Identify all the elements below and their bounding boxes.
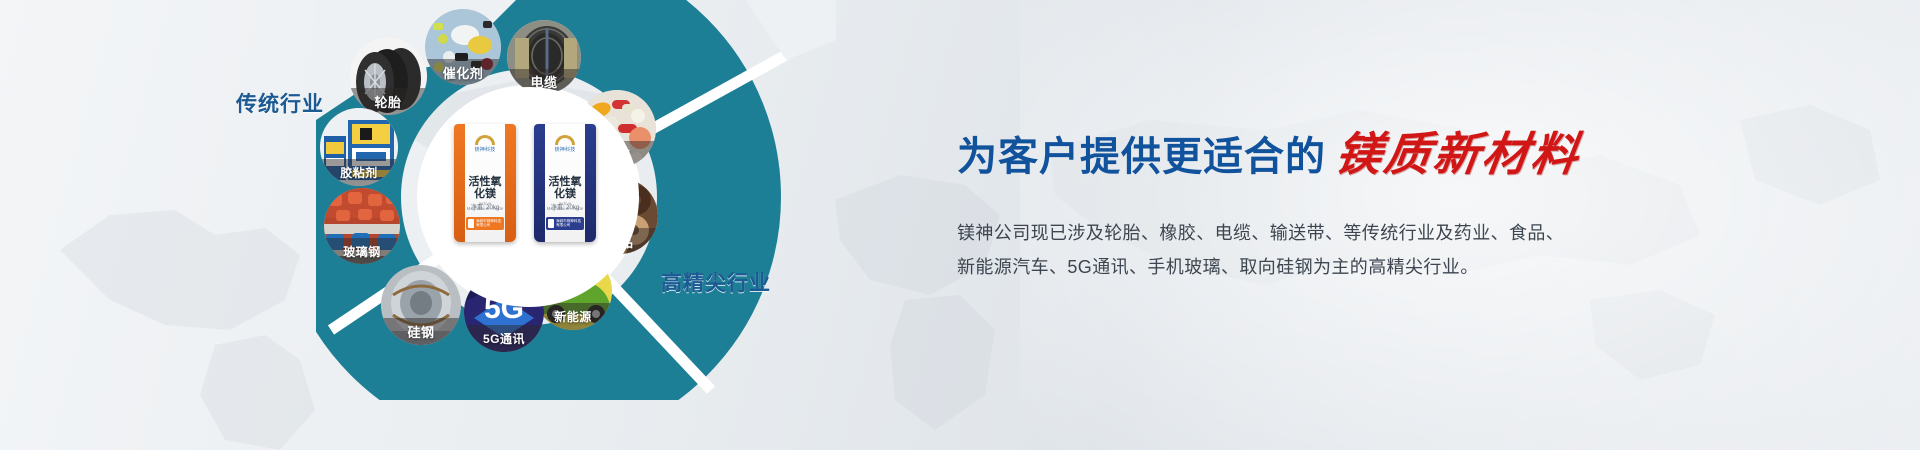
bubble-label: 催化剂 xyxy=(425,59,501,85)
product-bag-left[interactable]: 镁神科技 活性氧化镁 Active Magnesium oxide 净重: 20… xyxy=(454,124,516,242)
bag-edge-right xyxy=(585,124,596,242)
bag-footer-text: 海城市镁神科技有限公司 xyxy=(556,220,582,227)
bubble-catalyst[interactable]: 催化剂 xyxy=(425,9,501,85)
headline-blue-text: 为客户提供更适合的 xyxy=(957,124,1326,182)
bubble-label: 新能源 xyxy=(534,303,612,330)
banner-paragraph: 镁神公司现已涉及轮胎、橡胶、电缆、输送带、等传统行业及药业、食品、新能源汽车、5… xyxy=(957,216,1577,284)
banner-copy: 为客户提供更适合的 镁质新材料 镁神公司现已涉及轮胎、橡胶、电缆、输送带、等传统… xyxy=(957,118,1787,284)
bubble-fiberglass[interactable]: 玻璃钢 xyxy=(324,188,400,264)
ring-label-advanced: 高精尖行业 xyxy=(661,267,771,297)
bag-logo: 镁神科技 xyxy=(468,133,502,155)
bag-net-weight: 净重: 20kg xyxy=(534,202,596,211)
bubble-label: 5G通讯 xyxy=(464,325,544,352)
bubble-silicon-steel[interactable]: 硅钢 xyxy=(381,265,461,345)
bag-logo: 镁神科技 xyxy=(548,133,582,155)
center-product-disc: 镁神科技 活性氧化镁 Active Magnesium oxide 净重: 20… xyxy=(424,92,634,302)
product-bag-right[interactable]: 镁神科技 活性氧化镁 Active Magnesium oxide 净重: 20… xyxy=(534,124,596,242)
bag-edge-left xyxy=(454,124,465,242)
bag-footer-bar: 海城市镁神科技有限公司 xyxy=(466,217,504,230)
bubble-label: 硅钢 xyxy=(381,318,461,345)
bag-edge-right xyxy=(505,124,516,242)
bubble-label: 玻璃钢 xyxy=(324,238,400,264)
bubble-label: 胶粘剂 xyxy=(320,159,398,186)
bag-brand: 镁神科技 xyxy=(475,146,496,153)
logo-arc-icon xyxy=(555,135,575,145)
bubble-tire[interactable]: 轮胎 xyxy=(349,37,427,115)
headline: 为客户提供更适合的 镁质新材料 xyxy=(957,118,1787,184)
ring-label-traditional: 传统行业 xyxy=(236,88,324,118)
bubble-cable[interactable]: 电缆 xyxy=(507,20,581,94)
bag-qr-icon xyxy=(548,219,554,228)
logo-arc-icon xyxy=(475,135,495,145)
bubble-label: 电缆 xyxy=(507,69,581,94)
hero-banner: 传统行业 高精尖行业 轮胎 xyxy=(0,0,1920,450)
headline-red-text: 镁质新材料 xyxy=(1331,118,1585,184)
bag-footer-bar: 海城市镁神科技有限公司 xyxy=(546,217,584,230)
bag-product-name-cn: 活性氧化镁 xyxy=(469,176,502,200)
bubble-adhesive[interactable]: 胶粘剂 xyxy=(320,108,398,186)
industry-ring-diagram: 传统行业 高精尖行业 轮胎 xyxy=(316,0,836,400)
bag-net-weight: 净重: 20kg xyxy=(454,202,516,211)
bag-footer-text: 海城市镁神科技有限公司 xyxy=(476,220,502,227)
bag-brand: 镁神科技 xyxy=(555,146,576,153)
bag-qr-icon xyxy=(468,219,474,228)
bag-edge-left xyxy=(534,124,545,242)
bag-product-name-cn: 活性氧化镁 xyxy=(549,176,582,200)
